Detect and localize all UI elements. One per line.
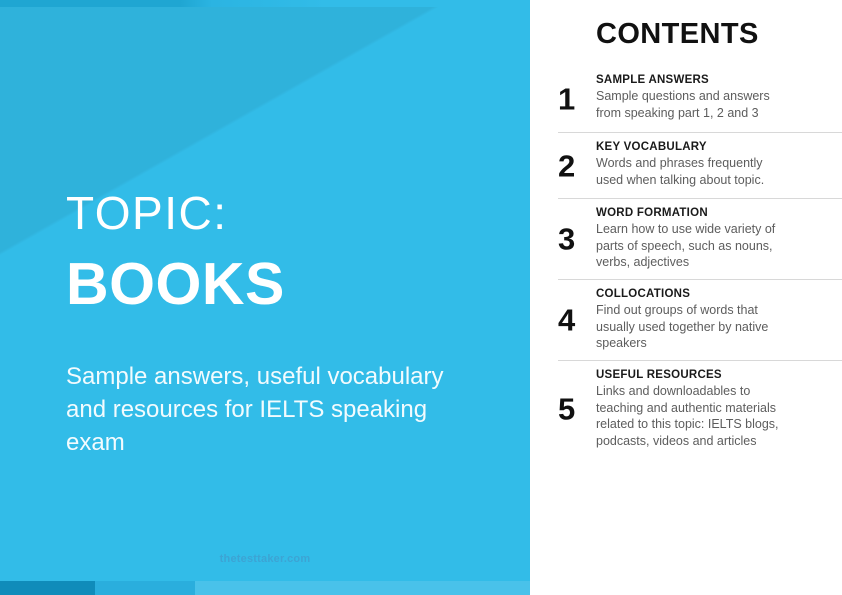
list-item-body: SAMPLE ANSWERS Sample questions and answ… bbox=[596, 73, 792, 121]
list-item-description: Learn how to use wide variety of parts o… bbox=[596, 221, 792, 271]
contents-list: 1 SAMPLE ANSWERS Sample questions and an… bbox=[530, 66, 842, 457]
list-item-heading: WORD FORMATION bbox=[596, 206, 792, 220]
hero-panel: TOPIC: BOOKS Sample answers, useful voca… bbox=[0, 0, 530, 595]
list-item-number: 5 bbox=[558, 393, 592, 424]
list-item-description: Words and phrases frequently used when t… bbox=[596, 155, 792, 188]
list-item-body: USEFUL RESOURCES Links and downloadables… bbox=[596, 368, 792, 449]
contents-column: CONTENTS 1 SAMPLE ANSWERS Sample questio… bbox=[530, 0, 842, 595]
list-item-heading: KEY VOCABULARY bbox=[596, 140, 792, 154]
list-item[interactable]: 5 USEFUL RESOURCES Links and downloadabl… bbox=[558, 360, 842, 457]
watermark-site-url: thetesttaker.com bbox=[0, 553, 530, 565]
list-item[interactable]: 4 COLLOCATIONS Find out groups of words … bbox=[558, 279, 842, 360]
list-item-description: Find out groups of words that usually us… bbox=[596, 302, 792, 352]
list-item-body: WORD FORMATION Learn how to use wide var… bbox=[596, 206, 792, 271]
list-item-body: COLLOCATIONS Find out groups of words th… bbox=[596, 287, 792, 352]
contents-heading: CONTENTS bbox=[596, 18, 759, 51]
bottom-accent-bar bbox=[0, 581, 530, 595]
list-item-number: 2 bbox=[558, 150, 592, 181]
hero-title-block: TOPIC: BOOKS bbox=[66, 190, 496, 316]
hero-subtitle: Sample answers, useful vocabulary and re… bbox=[66, 360, 486, 459]
list-item-heading: USEFUL RESOURCES bbox=[596, 368, 792, 382]
bottom-bar-segment-3 bbox=[195, 581, 530, 595]
bottom-bar-segment-1 bbox=[0, 581, 95, 595]
slide-canvas: TOPIC: BOOKS Sample answers, useful voca… bbox=[0, 0, 842, 595]
bottom-bar-segment-2 bbox=[95, 581, 195, 595]
list-item[interactable]: 3 WORD FORMATION Learn how to use wide v… bbox=[558, 198, 842, 279]
list-item-heading: SAMPLE ANSWERS bbox=[596, 73, 792, 87]
list-item-number: 1 bbox=[558, 84, 592, 115]
list-item[interactable]: 1 SAMPLE ANSWERS Sample questions and an… bbox=[558, 66, 842, 132]
topic-label: TOPIC: bbox=[66, 190, 496, 236]
list-item-description: Sample questions and answers from speaki… bbox=[596, 88, 792, 121]
list-item[interactable]: 2 KEY VOCABULARY Words and phrases frequ… bbox=[558, 132, 842, 198]
list-item-number: 3 bbox=[558, 223, 592, 254]
list-item-body: KEY VOCABULARY Words and phrases frequen… bbox=[596, 140, 792, 188]
list-item-description: Links and downloadables to teaching and … bbox=[596, 383, 792, 449]
hero-top-strip-decoration bbox=[0, 0, 530, 7]
list-item-heading: COLLOCATIONS bbox=[596, 287, 792, 301]
topic-value: BOOKS bbox=[66, 254, 496, 316]
list-item-number: 4 bbox=[558, 304, 592, 335]
